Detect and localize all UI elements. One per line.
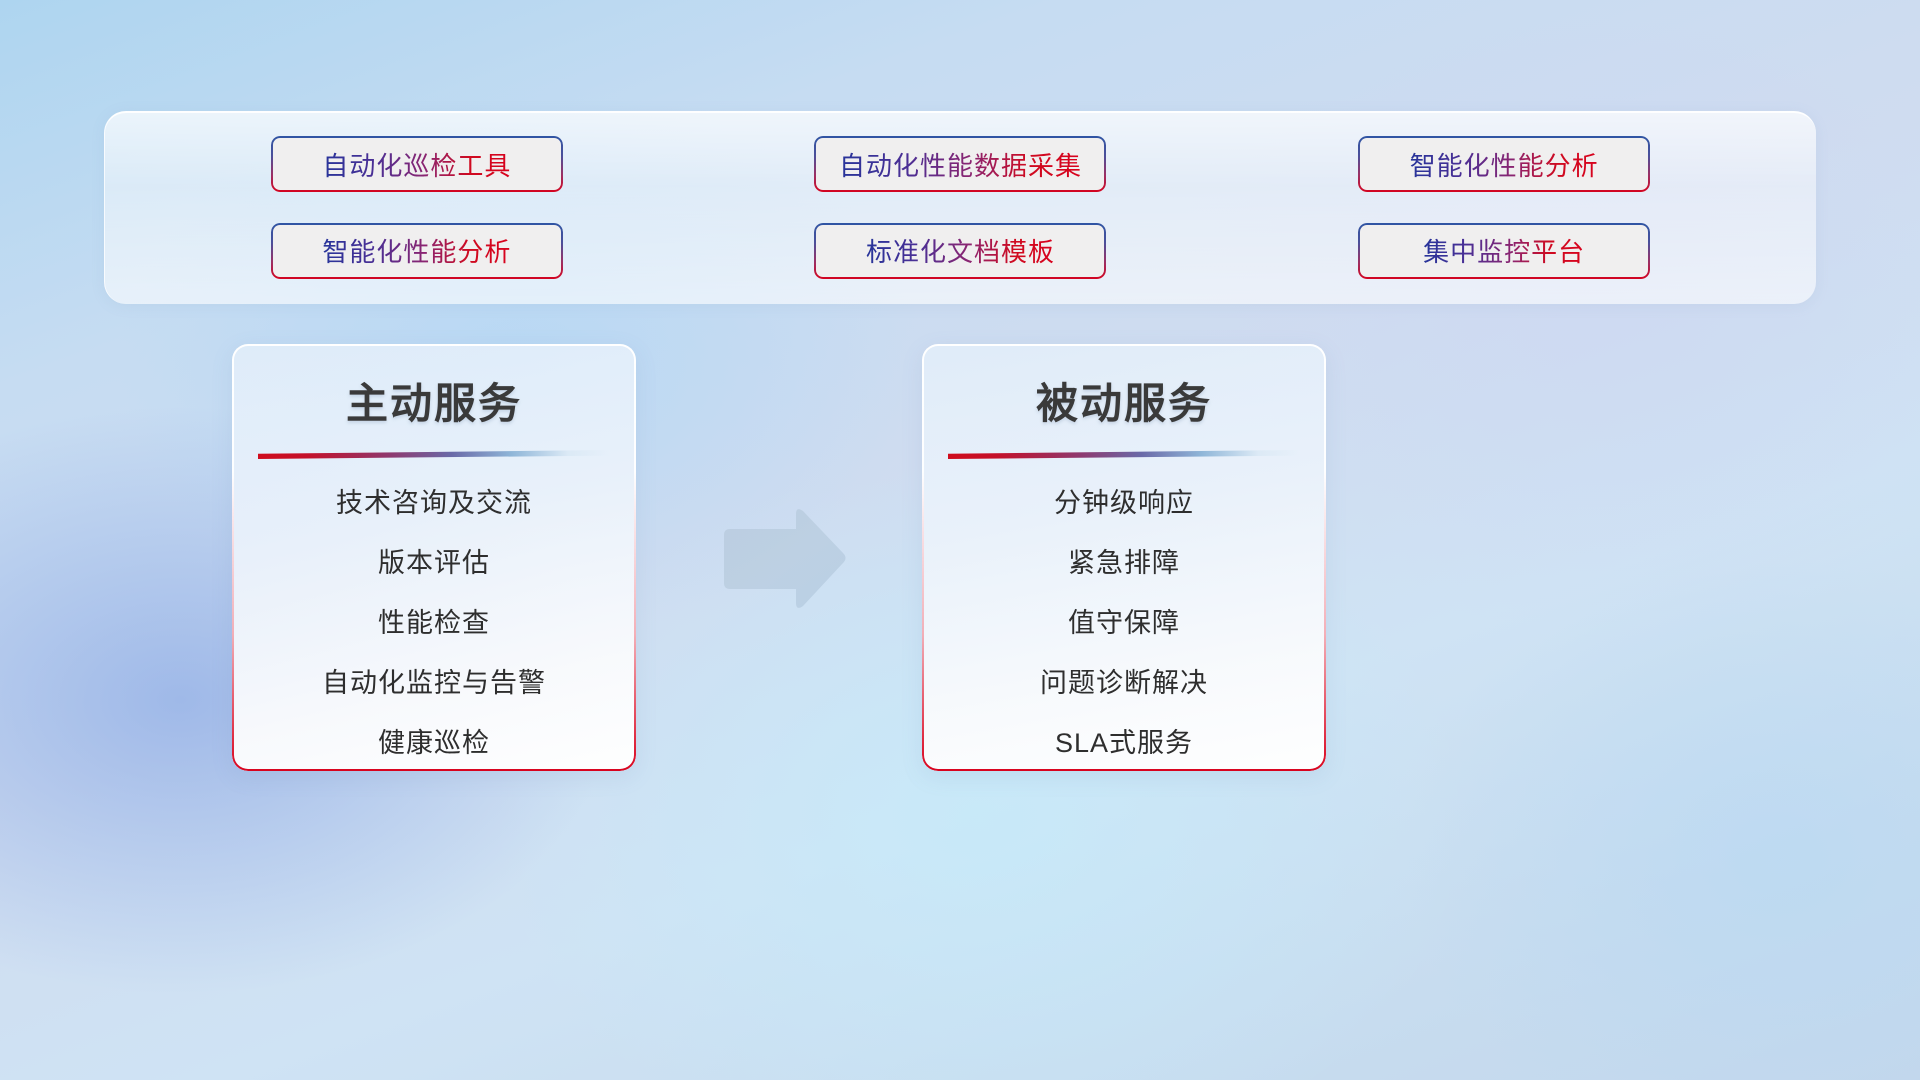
capability-chip-1[interactable]: 自动化巡检工具 [271, 136, 563, 192]
capability-chip-label: 标准化文档模板 [866, 232, 1055, 269]
list-item: SLA式服务 [1055, 721, 1193, 760]
slide-canvas: 自动化巡检工具 自动化性能数据采集 智能化性能分析 智能化性能分析 标准化文档模… [0, 0, 1920, 1080]
service-item-list: 分钟级响应 紧急排障 值守保障 问题诊断解决 SLA式服务 [922, 481, 1326, 760]
service-card-passive[interactable]: 被动服务 分钟级响应 紧急排障 值守保障 问题诊断解决 SLA式服务 [922, 344, 1326, 771]
list-item: 技术咨询及交流 [336, 481, 532, 520]
capability-chip-6[interactable]: 集中监控平台 [1358, 223, 1650, 279]
capability-chip-label: 自动化巡检工具 [322, 146, 511, 183]
title-divider [948, 450, 1300, 459]
service-card-title: 被动服务 [1036, 370, 1212, 431]
capability-chip-label: 自动化性能数据采集 [839, 146, 1082, 183]
service-card-body: 主动服务 技术咨询及交流 版本评估 性能检查 自动化监控与告警 健康巡检 [232, 344, 636, 771]
capability-chip-5[interactable]: 标准化文档模板 [814, 223, 1106, 279]
title-divider [258, 450, 610, 459]
list-item: 值守保障 [1068, 601, 1180, 640]
service-card-active[interactable]: 主动服务 技术咨询及交流 版本评估 性能检查 自动化监控与告警 健康巡检 [232, 344, 636, 771]
list-item: 紧急排障 [1068, 541, 1180, 580]
list-item: 健康巡检 [378, 721, 490, 760]
capability-chip-label: 智能化性能分析 [322, 232, 511, 269]
list-item: 自动化监控与告警 [322, 661, 546, 700]
list-item: 分钟级响应 [1054, 481, 1194, 520]
capability-panel: 自动化巡检工具 自动化性能数据采集 智能化性能分析 智能化性能分析 标准化文档模… [104, 111, 1816, 304]
capability-chip-label: 集中监控平台 [1423, 232, 1585, 269]
list-item: 版本评估 [378, 541, 490, 580]
capability-chip-3[interactable]: 智能化性能分析 [1358, 136, 1650, 192]
service-card-body: 被动服务 分钟级响应 紧急排障 值守保障 问题诊断解决 SLA式服务 [922, 344, 1326, 771]
list-item: 性能检查 [378, 601, 490, 640]
list-item: 问题诊断解决 [1040, 661, 1208, 700]
capability-chip-4[interactable]: 智能化性能分析 [271, 223, 563, 279]
capability-chip-label: 智能化性能分析 [1410, 146, 1599, 183]
flow-arrow-right-icon [718, 505, 848, 615]
capability-chip-grid: 自动化巡检工具 自动化性能数据采集 智能化性能分析 智能化性能分析 标准化文档模… [105, 113, 1816, 304]
service-card-title: 主动服务 [346, 370, 522, 431]
service-item-list: 技术咨询及交流 版本评估 性能检查 自动化监控与告警 健康巡检 [232, 481, 636, 760]
capability-chip-2[interactable]: 自动化性能数据采集 [814, 136, 1106, 192]
